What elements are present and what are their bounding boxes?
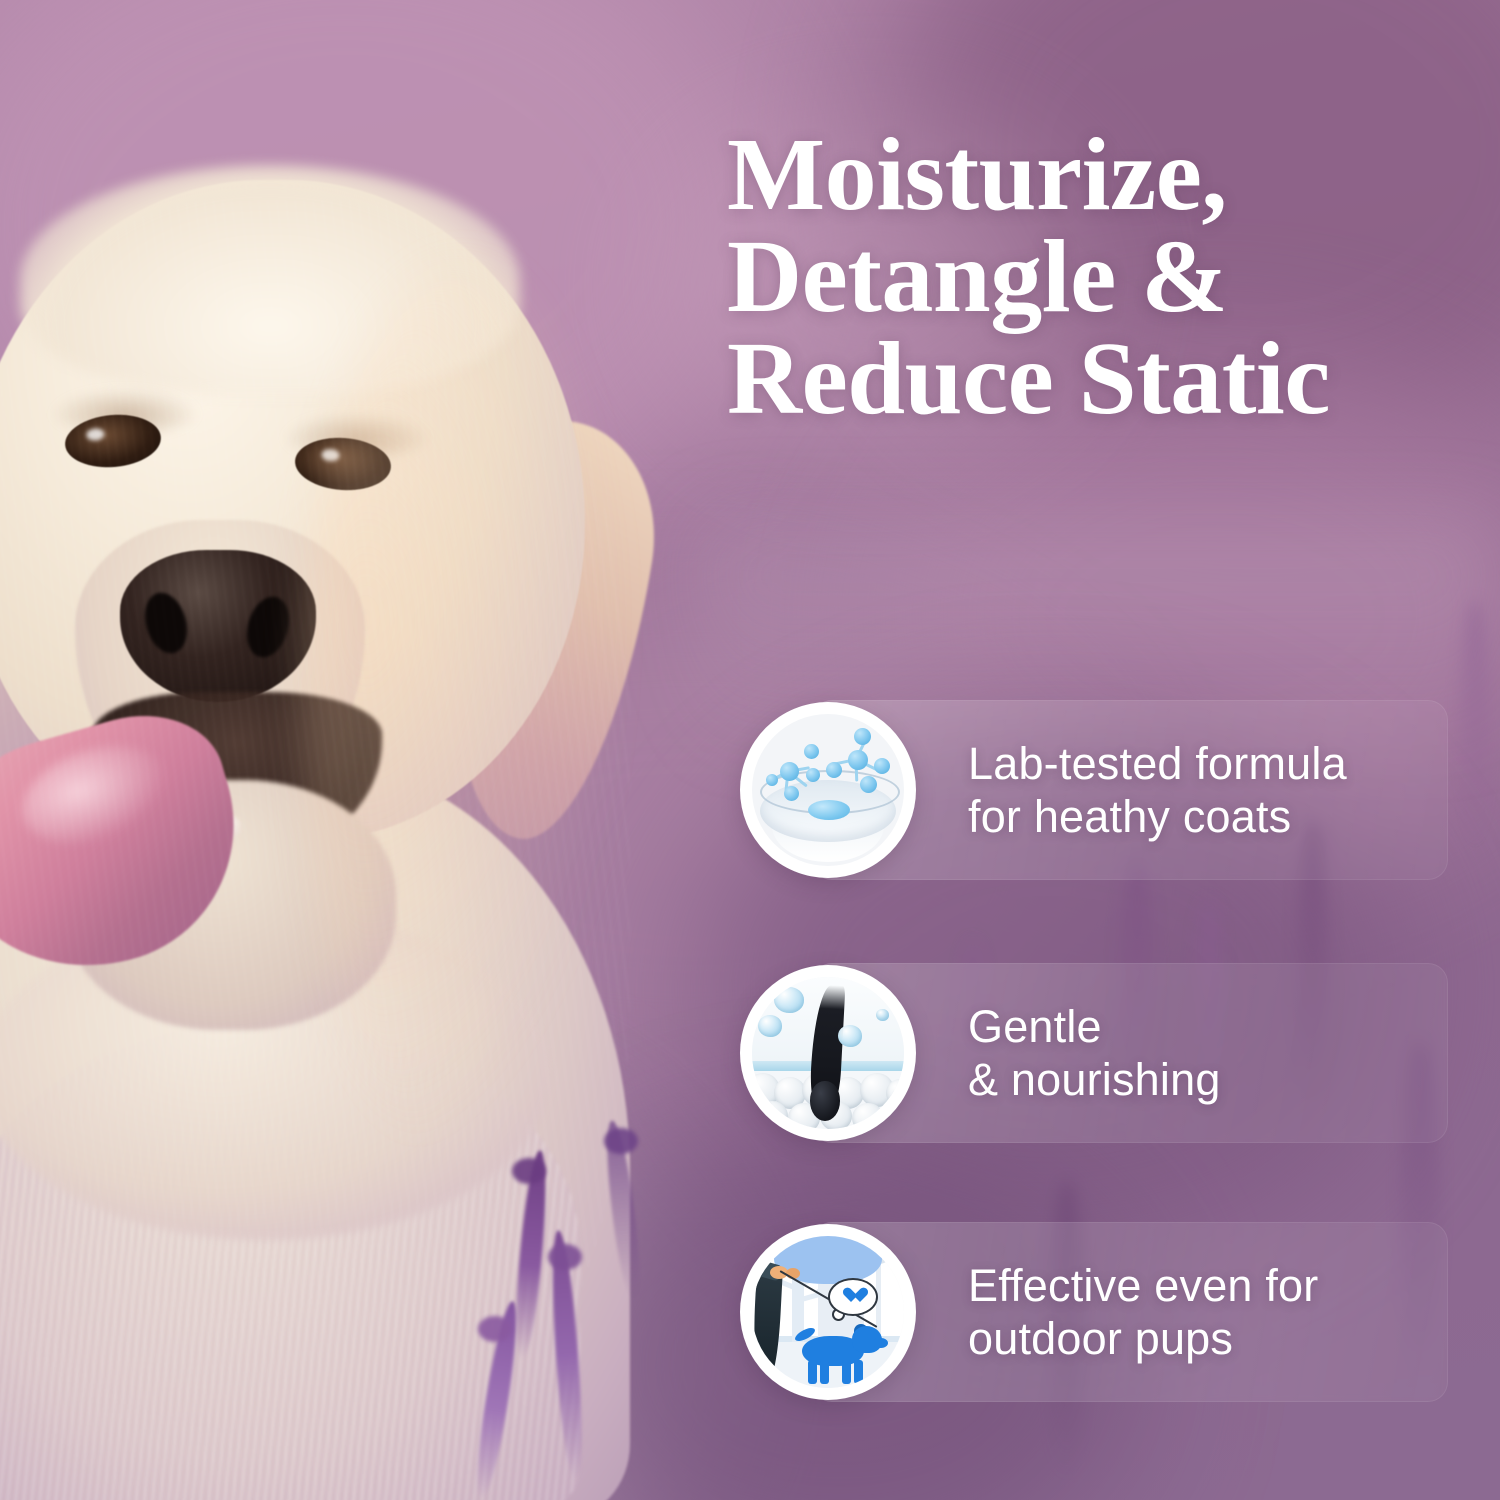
headline-line-2: Detangle & <box>727 226 1487 328</box>
feature-card-text: Gentle & nourishing <box>968 1000 1221 1106</box>
feature-text-line-2: & nourishing <box>968 1053 1221 1106</box>
feature-text-line-2: for heathy coats <box>968 790 1347 843</box>
feature-text-line-1: Lab-tested formula <box>968 737 1347 790</box>
feature-text-line-1: Effective even for <box>968 1259 1318 1312</box>
headline-line-3: Reduce Static <box>727 328 1487 430</box>
feature-card-text: Effective even for outdoor pups <box>968 1259 1318 1365</box>
feature-text-line-1: Gentle <box>968 1000 1221 1053</box>
headline-line-1: Moisturize, <box>727 124 1487 226</box>
feature-text-line-2: outdoor pups <box>968 1312 1318 1365</box>
feature-card-text: Lab-tested formula for heathy coats <box>968 737 1347 843</box>
product-feature-banner: Moisturize, Detangle & Reduce Static Lab… <box>0 0 1500 1500</box>
dog-walking-icon <box>740 1224 916 1400</box>
dog-photo <box>0 120 770 1500</box>
hair-follicle-icon <box>740 965 916 1141</box>
petri-dish-molecule-icon <box>740 702 916 878</box>
page-title: Moisturize, Detangle & Reduce Static <box>727 124 1487 430</box>
